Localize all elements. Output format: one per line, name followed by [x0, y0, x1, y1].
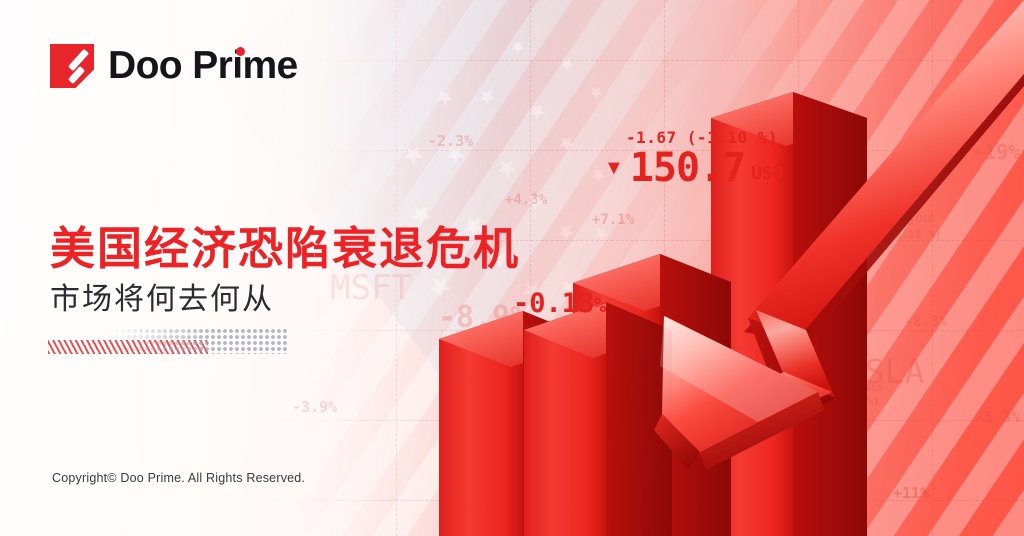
brand-logo[interactable]: Doo Prime	[50, 44, 298, 88]
bar-percent-value: -0.13	[513, 288, 594, 319]
chart-bar-shadow	[606, 302, 672, 536]
bar-percent-callout: -0.13%	[513, 288, 606, 319]
logo-dot-icon	[236, 47, 245, 56]
copyright-text: Copyright© Doo Prime. All Rights Reserve…	[52, 471, 305, 485]
bar-percent-unit: %	[594, 293, 606, 317]
marketing-banner: ★★★★★★★★★★★★★★★★★★★★★★★★★★★★★★★★★★ MSFT-…	[0, 0, 1024, 536]
dot-grid-icon	[108, 328, 288, 354]
price-currency: USD	[751, 163, 784, 184]
price-value: 150.7	[630, 145, 745, 191]
page-subtitle: 市场将何去何从	[50, 274, 274, 318]
doo-prime-square-icon	[50, 44, 94, 88]
brand-name: Doo Prime	[108, 44, 298, 88]
decorative-divider	[48, 328, 288, 356]
price-callout: -1.67 (-1.10 %) ▼ 150.7 USD	[604, 128, 784, 191]
triangle-down-icon: ▼	[604, 158, 624, 178]
page-title: 美国经济恐陷衰退危机	[50, 212, 520, 277]
